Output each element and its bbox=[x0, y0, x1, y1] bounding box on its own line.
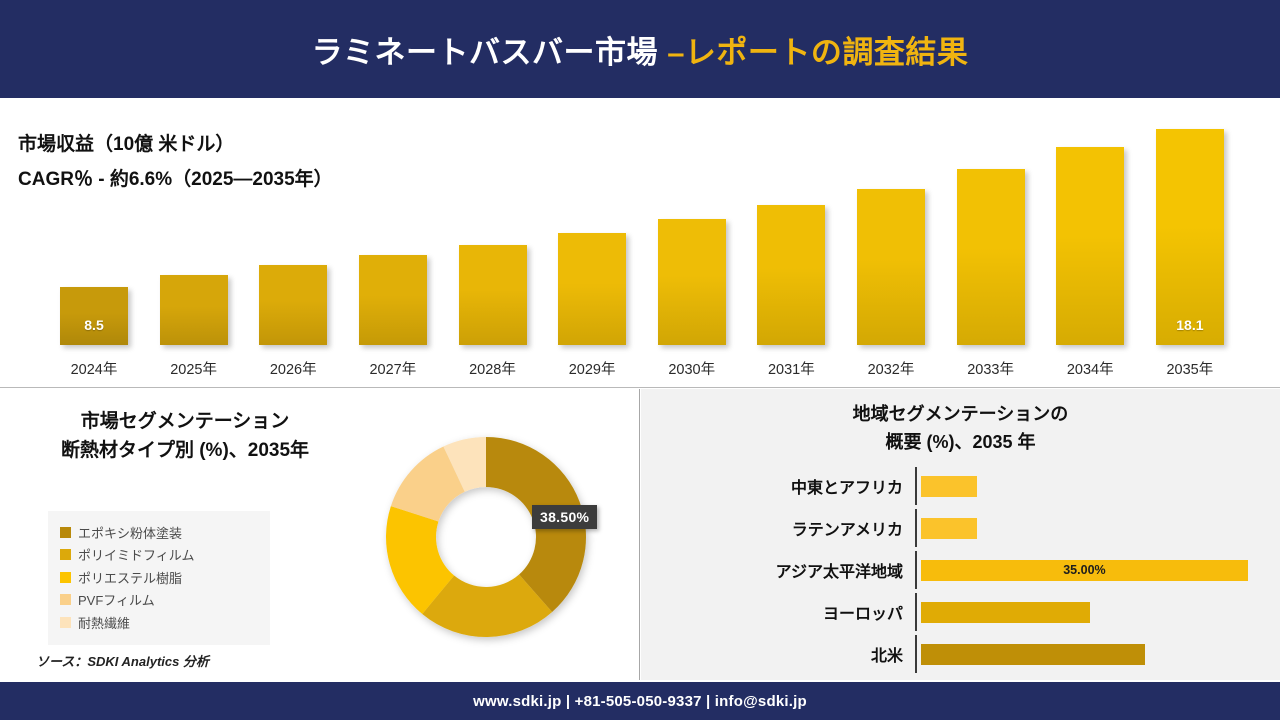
legend-item-label: PVFフィルム bbox=[78, 590, 155, 609]
region-bar-row: 中東とアフリカ bbox=[693, 467, 1258, 505]
legend-item-label: ポリエステル樹脂 bbox=[78, 568, 182, 587]
region-bar-label: ラテンアメリカ bbox=[693, 516, 915, 540]
region-panel: 地域セグメンテーションの 概要 (%)、2035 年 中東とアフリカラテンアメリ… bbox=[641, 389, 1280, 680]
region-bar-track bbox=[915, 593, 1258, 631]
region-bar-label: ヨーロッパ bbox=[693, 600, 915, 624]
revenue-bar bbox=[857, 189, 925, 345]
revenue-bar bbox=[1056, 147, 1124, 345]
infographic-page: ラミネートバスバー市場 –レポートの調査結果 市場収益（10億 米ドル） CAG… bbox=[0, 0, 1280, 720]
page-title-accent: –レポートの調査結果 bbox=[667, 35, 968, 70]
page-title: ラミネートバスバー市場 –レポートの調査結果 bbox=[312, 27, 969, 72]
revenue-bar-label: 2026年 bbox=[270, 358, 317, 379]
revenue-bar-label: 2033年 bbox=[967, 358, 1014, 379]
page-header: ラミネートバスバー市場 –レポートの調査結果 bbox=[0, 0, 1280, 101]
legend-swatch-icon bbox=[60, 527, 71, 538]
region-bar-label: 北米 bbox=[693, 642, 915, 666]
revenue-bars: 8.52024年2025年2026年2027年2028年2029年2030年20… bbox=[60, 129, 1224, 345]
revenue-bar-group: 2026年 bbox=[259, 129, 327, 345]
revenue-bar-group: 2032年 bbox=[857, 129, 925, 345]
segmentation-legend: エポキシ粉体塗装ポリイミドフィルムポリエステル樹脂PVFフィルム耐熱繊維 bbox=[48, 511, 270, 645]
legend-item-label: 耐熱繊維 bbox=[78, 613, 130, 632]
region-bar-track bbox=[915, 509, 1258, 547]
revenue-bar bbox=[558, 233, 626, 345]
revenue-bar-label: 2028年 bbox=[469, 358, 516, 379]
region-bar bbox=[921, 644, 1145, 665]
page-title-main: ラミネートバスバー市場 bbox=[312, 35, 668, 70]
revenue-bar-group: 2027年 bbox=[359, 129, 427, 345]
legend-item: ポリイミドフィルム bbox=[60, 545, 260, 564]
revenue-bar-label: 2024年 bbox=[71, 358, 118, 379]
revenue-bar-group: 2030年 bbox=[658, 129, 726, 345]
region-bar-label: アジア太平洋地域 bbox=[693, 558, 915, 582]
revenue-bar-label: 2032年 bbox=[868, 358, 915, 379]
region-title-line1: 地域セグメンテーションの bbox=[641, 401, 1280, 429]
revenue-bar-group: 2029年 bbox=[558, 129, 626, 345]
region-bar-row: アジア太平洋地域35.00% bbox=[693, 551, 1258, 589]
revenue-bar bbox=[259, 265, 327, 345]
region-title: 地域セグメンテーションの 概要 (%)、2035 年 bbox=[641, 401, 1280, 457]
region-bar-row: ヨーロッパ bbox=[693, 593, 1258, 631]
revenue-bar-group: 2034年 bbox=[1056, 129, 1124, 345]
revenue-bar: 8.5 bbox=[60, 287, 128, 345]
legend-swatch-icon bbox=[60, 594, 71, 605]
region-bar-row: 北米 bbox=[693, 635, 1258, 673]
region-bar-track bbox=[915, 467, 1258, 505]
revenue-bar-group: 2033年 bbox=[957, 129, 1025, 345]
revenue-bar bbox=[459, 245, 527, 345]
region-bar-track: 35.00% bbox=[915, 551, 1258, 589]
revenue-bar-label: 2029年 bbox=[569, 358, 616, 379]
legend-item: ポリエステル樹脂 bbox=[60, 568, 260, 587]
region-bar bbox=[921, 518, 977, 539]
donut-segments bbox=[386, 437, 586, 637]
legend-item: エポキシ粉体塗装 bbox=[60, 523, 260, 542]
revenue-bar-group: 2028年 bbox=[459, 129, 527, 345]
donut-callout-badge: 38.50% bbox=[532, 505, 597, 529]
bottom-section: 市場セグメンテーション 断熱材タイプ別 (%)、2035年 エポキシ粉体塗装ポリ… bbox=[0, 389, 1280, 680]
legend-item-label: エポキシ粉体塗装 bbox=[78, 523, 182, 542]
donut-svg bbox=[345, 407, 635, 669]
region-bar: 35.00% bbox=[921, 560, 1248, 581]
region-bar-chart: 中東とアフリカラテンアメリカアジア太平洋地域35.00%ヨーロッパ北米 bbox=[693, 467, 1258, 662]
revenue-bar-group: 18.12035年 bbox=[1156, 129, 1224, 345]
revenue-bar bbox=[757, 205, 825, 345]
revenue-bar-label: 2034年 bbox=[1067, 358, 1114, 379]
segmentation-panel: 市場セグメンテーション 断熱材タイプ別 (%)、2035年 エポキシ粉体塗装ポリ… bbox=[0, 389, 640, 680]
revenue-bar bbox=[658, 219, 726, 345]
revenue-section: 市場収益（10億 米ドル） CAGR％ - 約6.6%（2025―2035年） … bbox=[0, 101, 1280, 388]
revenue-bar-label: 2027年 bbox=[369, 358, 416, 379]
revenue-bar bbox=[957, 169, 1025, 345]
revenue-bar-chart: 8.52024年2025年2026年2027年2028年2029年2030年20… bbox=[40, 129, 1240, 387]
segmentation-title-line1: 市場セグメンテーション bbox=[20, 407, 350, 436]
region-bar-row: ラテンアメリカ bbox=[693, 509, 1258, 547]
revenue-bar-group: 2031年 bbox=[757, 129, 825, 345]
revenue-bar-label: 2031年 bbox=[768, 358, 815, 379]
donut-chart: 38.50% bbox=[345, 407, 635, 669]
legend-item: PVFフィルム bbox=[60, 590, 260, 609]
revenue-bar-value: 8.5 bbox=[84, 317, 103, 333]
legend-item: 耐熱繊維 bbox=[60, 613, 260, 632]
revenue-bar: 18.1 bbox=[1156, 129, 1224, 345]
legend-swatch-icon bbox=[60, 617, 71, 628]
region-bar-value: 35.00% bbox=[1063, 563, 1105, 577]
page-footer: www.sdki.jp | +81-505-050-9337 | info@sd… bbox=[0, 682, 1280, 720]
region-bar bbox=[921, 602, 1090, 623]
revenue-bar bbox=[359, 255, 427, 345]
revenue-bar-group: 2025年 bbox=[160, 129, 228, 345]
legend-item-label: ポリイミドフィルム bbox=[78, 545, 194, 564]
segmentation-title-line2: 断熱材タイプ別 (%)、2035年 bbox=[20, 436, 350, 465]
source-note: ソース：SDKI Analytics 分析 bbox=[36, 651, 209, 670]
region-title-line2: 概要 (%)、2035 年 bbox=[641, 429, 1280, 457]
revenue-bar-group: 8.52024年 bbox=[60, 129, 128, 345]
footer-contact: www.sdki.jp | +81-505-050-9337 | info@sd… bbox=[473, 693, 807, 710]
revenue-bar-label: 2025年 bbox=[170, 358, 217, 379]
legend-swatch-icon bbox=[60, 572, 71, 583]
revenue-bar bbox=[160, 275, 228, 345]
region-bar bbox=[921, 476, 977, 497]
region-bar-label: 中東とアフリカ bbox=[693, 474, 915, 498]
region-bar-track bbox=[915, 635, 1258, 673]
segmentation-title: 市場セグメンテーション 断熱材タイプ別 (%)、2035年 bbox=[20, 407, 350, 466]
revenue-bar-value: 18.1 bbox=[1176, 317, 1203, 333]
legend-swatch-icon bbox=[60, 549, 71, 560]
revenue-bar-label: 2030年 bbox=[668, 358, 715, 379]
revenue-bar-label: 2035年 bbox=[1166, 358, 1213, 379]
